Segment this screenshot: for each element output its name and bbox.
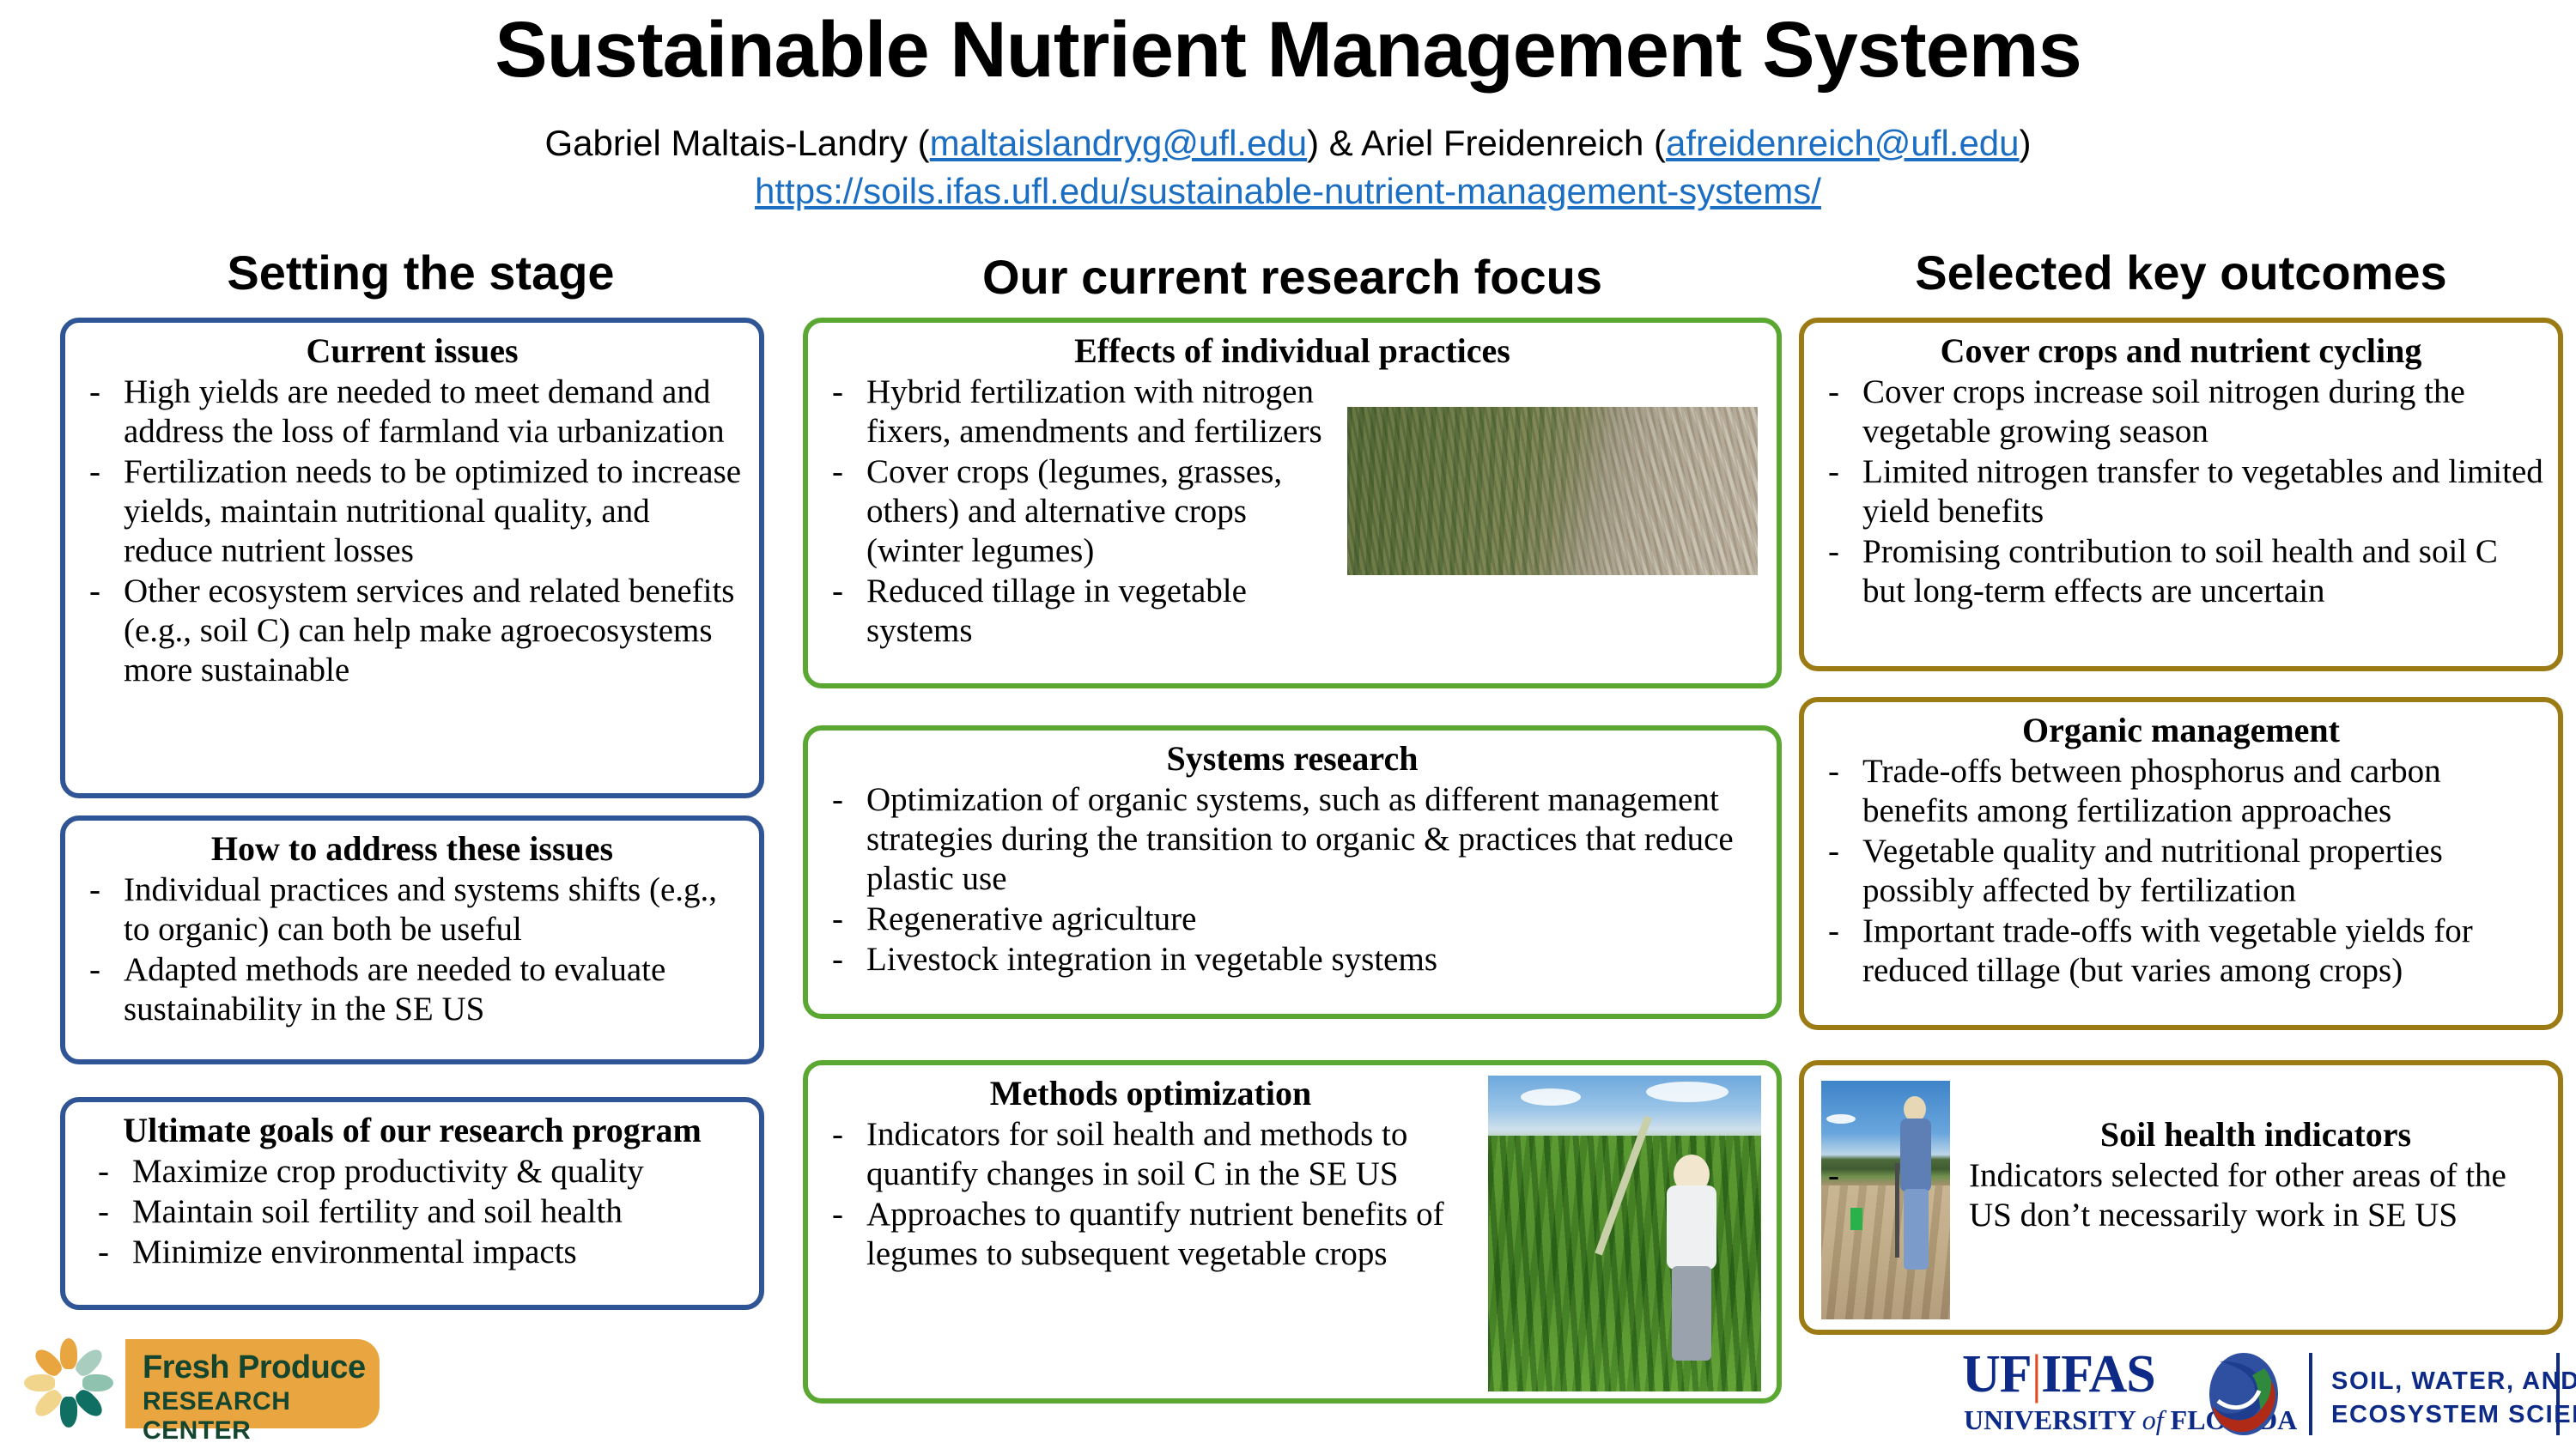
column-heading-middle: Our current research focus <box>799 249 1786 305</box>
fresh-produce-research-center-logo: Fresh Produce RESEARCH CENTER <box>19 1332 380 1434</box>
byline-middle: ) & Ariel Freidenreich ( <box>1307 123 1666 163</box>
list-item: Livestock integration in vegetable syste… <box>823 940 1763 979</box>
column-heading-left: Setting the stage <box>69 245 773 300</box>
bullet-list: Optimization of organic systems, such as… <box>808 780 1777 979</box>
page-title: Sustainable Nutrient Management Systems <box>0 10 2576 91</box>
author2-email-link[interactable]: afreidenreich@ufl.edu <box>1666 123 2020 163</box>
divider-right <box>2556 1353 2560 1435</box>
list-item: Trade-offs between phosphorus and carbon… <box>1820 752 2544 831</box>
swes-text: SOIL, WATER, AND ECOSYSTEM SCIENCES <box>2331 1365 2576 1432</box>
card-soil-health-indicators: Soil health indicators Indicators select… <box>1799 1060 2563 1335</box>
list-item: Promising contribution to soil health an… <box>1820 532 2544 611</box>
byline-suffix: ) <box>2020 123 2032 163</box>
uf-mark-left: UF <box>1962 1345 2032 1404</box>
swes-line2: ECOSYSTEM SCIENCES <box>2331 1398 2576 1432</box>
card-title: Effects of individual practices <box>808 331 1777 371</box>
bullet-list: High yields are needed to meet demand an… <box>65 373 759 690</box>
card-title: Systems research <box>808 739 1777 779</box>
list-item: Vegetable quality and nutritional proper… <box>1820 832 2544 911</box>
uf-mark-right: IFAS <box>2041 1345 2155 1404</box>
list-item: Reduced tillage in vegetable systems <box>823 572 1763 651</box>
list-item: Adapted methods are needed to evaluate s… <box>81 950 745 1029</box>
card-ultimate-goals: Ultimate goals of our research program M… <box>60 1097 764 1310</box>
card-title: Cover crops and nutrient cycling <box>1804 331 2558 371</box>
list-item: Cover crops (legumes, grasses, others) a… <box>823 452 1763 571</box>
bullet-list: Indicators selected for other areas of t… <box>1804 1156 2558 1235</box>
byline: Gabriel Maltais-Landry (maltaislandryg@u… <box>0 122 2576 165</box>
byline-prefix: Gabriel Maltais-Landry ( <box>544 123 929 163</box>
list-item: Minimize environmental impacts <box>89 1233 745 1272</box>
list-item: Other ecosystem services and related ben… <box>81 572 745 690</box>
list-item: Fertilization needs to be optimized to i… <box>81 452 745 571</box>
divider-left <box>2309 1353 2312 1435</box>
swes-seed-icon <box>2204 1351 2283 1437</box>
list-item: Cover crops increase soil nitrogen durin… <box>1820 373 2544 452</box>
card-title: Ultimate goals of our research program <box>65 1111 759 1150</box>
legume-field-sampling-photo <box>1488 1076 1761 1391</box>
card-methods-optimization: Methods optimization Indicators for soil… <box>803 1060 1782 1404</box>
bullet-list: Maximize crop productivity & quality Mai… <box>65 1152 759 1272</box>
list-item: Indicators for soil health and methods t… <box>823 1115 1476 1194</box>
fresh-produce-line1: Fresh Produce <box>143 1349 366 1386</box>
card-title: Current issues <box>65 331 759 371</box>
fresh-produce-line2: RESEARCH CENTER <box>143 1387 380 1446</box>
card-current-issues: Current issues High yields are needed to… <box>60 318 764 798</box>
author1-email-link[interactable]: maltaislandryg@ufl.edu <box>930 123 1308 163</box>
card-individual-practices: Effects of individual practices Hybrid f… <box>803 318 1782 688</box>
bullet-list: Trade-offs between phosphorus and carbon… <box>1804 752 2558 991</box>
bullet-list: Hybrid fertilization with nitrogen fixer… <box>808 373 1777 651</box>
card-how-to-address: How to address these issues Individual p… <box>60 815 764 1064</box>
swes-line1: SOIL, WATER, AND <box>2331 1365 2576 1398</box>
bullet-list: Cover crops increase soil nitrogen durin… <box>1804 373 2558 611</box>
list-item: Individual practices and systems shifts … <box>81 870 745 949</box>
list-item: Maximize crop productivity & quality <box>89 1152 745 1191</box>
list-item: Approaches to quantify nutrient benefits… <box>823 1195 1476 1274</box>
list-item: Maintain soil fertility and soil health <box>89 1192 745 1232</box>
project-url: https://soils.ifas.ufl.edu/sustainable-n… <box>0 170 2576 213</box>
flower-petals-icon <box>19 1336 113 1430</box>
card-title: How to address these issues <box>65 829 759 869</box>
list-item: Optimization of organic systems, such as… <box>823 780 1763 899</box>
uf-sub-of: of <box>2142 1404 2164 1435</box>
card-systems-research: Systems research Optimization of organic… <box>803 725 1782 1019</box>
list-item: Limited nitrogen transfer to vegetables … <box>1820 452 2544 531</box>
fresh-produce-wordmark: Fresh Produce RESEARCH CENTER <box>125 1339 380 1428</box>
card-organic-management: Organic management Trade-offs between ph… <box>1799 697 2563 1030</box>
column-heading-right: Selected key outcomes <box>1795 245 2567 300</box>
card-title: Organic management <box>1804 711 2558 750</box>
uf-ifas-logo: UF|IFAS UNIVERSITY of FLORIDA SOIL, WATE… <box>1962 1348 2563 1442</box>
uf-mark-divider: | <box>2032 1345 2041 1404</box>
list-item: Hybrid fertilization with nitrogen fixer… <box>823 373 1763 452</box>
bullet-list: Individual practices and systems shifts … <box>65 870 759 1029</box>
list-item: Indicators selected for other areas of t… <box>1820 1156 2544 1235</box>
card-cover-crops-cycling: Cover crops and nutrient cycling Cover c… <box>1799 318 2563 671</box>
list-item: Regenerative agriculture <box>823 900 1763 939</box>
uf-ifas-wordmark: UF|IFAS <box>1962 1348 2155 1401</box>
list-item: High yields are needed to meet demand an… <box>81 373 745 452</box>
list-item: Important trade-offs with vegetable yiel… <box>1820 912 2544 991</box>
project-url-link[interactable]: https://soils.ifas.ufl.edu/sustainable-n… <box>755 171 1821 211</box>
uf-sub-pre: UNIVERSITY <box>1964 1404 2136 1435</box>
